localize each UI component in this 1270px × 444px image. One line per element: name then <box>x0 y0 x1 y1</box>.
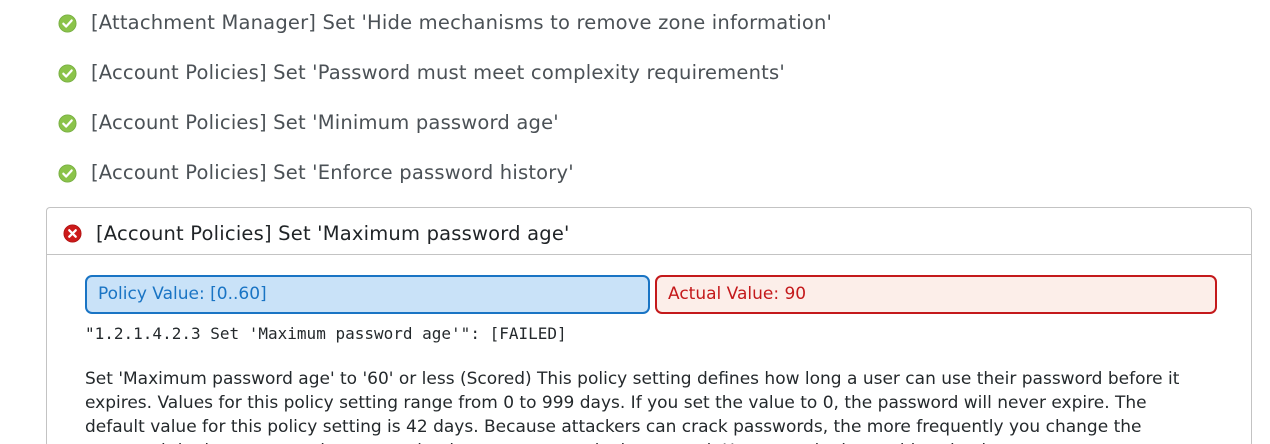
check-circle-icon <box>58 64 77 83</box>
policy-description: Set 'Maximum password age' to '60' or le… <box>85 367 1210 444</box>
list-item[interactable]: [Attachment Manager] Set 'Hide mechanism… <box>0 10 1270 60</box>
list-item[interactable]: [Account Policies] Set 'Password must me… <box>0 60 1270 110</box>
list-item[interactable]: [Account Policies] Set 'Enforce password… <box>0 160 1270 210</box>
list-item-label: [Account Policies] Set 'Password must me… <box>91 60 785 86</box>
failed-check-card: [Account Policies] Set 'Maximum password… <box>46 207 1252 444</box>
list-item-label: [Account Policies] Set 'Minimum password… <box>91 110 559 136</box>
error-circle-icon <box>63 224 82 243</box>
failed-check-body: Policy Value: [0..60] Actual Value: 90 "… <box>47 255 1251 444</box>
passed-checks-list: [Attachment Manager] Set 'Hide mechanism… <box>0 0 1270 210</box>
failed-check-header[interactable]: [Account Policies] Set 'Maximum password… <box>47 208 1251 255</box>
policy-value-box: Policy Value: [0..60] <box>85 275 650 314</box>
list-item[interactable]: [Account Policies] Set 'Minimum password… <box>0 110 1270 160</box>
compliance-results-page: [Attachment Manager] Set 'Hide mechanism… <box>0 0 1270 444</box>
list-item-label: [Attachment Manager] Set 'Hide mechanism… <box>91 10 832 36</box>
value-comparison-row: Policy Value: [0..60] Actual Value: 90 <box>85 275 1213 314</box>
check-circle-icon <box>58 114 77 133</box>
check-circle-icon <box>58 164 77 183</box>
failed-check-label: [Account Policies] Set 'Maximum password… <box>96 221 570 247</box>
actual-value-box: Actual Value: 90 <box>655 275 1217 314</box>
list-item-label: [Account Policies] Set 'Enforce password… <box>91 160 574 186</box>
check-circle-icon <box>58 14 77 33</box>
result-status-line: "1.2.1.4.2.3 Set 'Maximum password age'"… <box>85 323 1213 345</box>
